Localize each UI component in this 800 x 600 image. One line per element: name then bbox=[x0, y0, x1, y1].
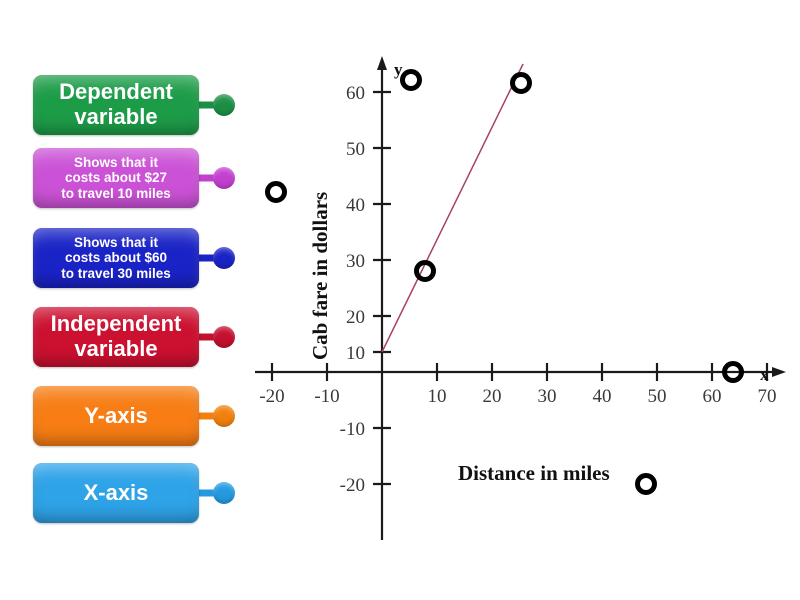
svg-text:60: 60 bbox=[703, 386, 722, 407]
label-connector-cost-60-30-miles bbox=[199, 228, 239, 288]
svg-text:10: 10 bbox=[428, 386, 447, 407]
connector-knob[interactable] bbox=[213, 167, 235, 189]
svg-text:-10: -10 bbox=[314, 386, 339, 407]
label-connector-x-axis bbox=[199, 463, 239, 523]
label-row-cost-60-30-miles[interactable]: Shows that itcosts about $60to travel 30… bbox=[33, 228, 239, 288]
label-connector-independent-variable bbox=[199, 307, 239, 367]
connector-knob[interactable] bbox=[213, 326, 235, 348]
label-tab-cost-27-10-miles[interactable]: Shows that itcosts about $27to travel 10… bbox=[33, 148, 199, 208]
drop-target-x-axis-title[interactable] bbox=[635, 473, 657, 495]
svg-text:10: 10 bbox=[346, 343, 365, 364]
svg-text:50: 50 bbox=[648, 386, 667, 407]
label-row-cost-27-10-miles[interactable]: Shows that itcosts about $27to travel 10… bbox=[33, 148, 239, 208]
label-tab-independent-variable[interactable]: Independentvariable bbox=[33, 307, 199, 367]
svg-text:40: 40 bbox=[593, 386, 612, 407]
svg-text:50: 50 bbox=[346, 139, 365, 160]
label-row-x-axis[interactable]: X-axis bbox=[33, 463, 239, 523]
x-axis-arrowhead bbox=[772, 367, 786, 377]
label-tab-y-axis[interactable]: Y-axis bbox=[33, 386, 199, 446]
y-tick-labels: 60 50 40 30 20 10 -10 -20 bbox=[340, 83, 365, 496]
label-tab-dependent-variable[interactable]: Dependentvariable bbox=[33, 75, 199, 135]
coordinate-graph: 60 50 40 30 20 10 -10 -20 -20 -10 10 20 … bbox=[255, 40, 800, 560]
drop-target-x-axis-letter[interactable] bbox=[722, 361, 744, 383]
label-tab-text: Shows that itcosts about $60to travel 30… bbox=[61, 235, 171, 280]
svg-text:30: 30 bbox=[538, 386, 557, 407]
drop-target-y-axis-letter[interactable] bbox=[400, 69, 422, 91]
drop-target-y-axis-title[interactable] bbox=[265, 181, 287, 203]
y-axis-title: Cab fare in dollars bbox=[308, 192, 333, 360]
label-row-independent-variable[interactable]: Independentvariable bbox=[33, 307, 239, 367]
plotted-line bbox=[382, 64, 523, 352]
svg-text:-10: -10 bbox=[340, 419, 365, 440]
label-tab-cost-60-30-miles[interactable]: Shows that itcosts about $60to travel 30… bbox=[33, 228, 199, 288]
label-tab-x-axis[interactable]: X-axis bbox=[33, 463, 199, 523]
svg-text:60: 60 bbox=[346, 83, 365, 104]
label-tab-text: Independentvariable bbox=[51, 312, 182, 361]
svg-text:70: 70 bbox=[758, 386, 777, 407]
label-row-dependent-variable[interactable]: Dependentvariable bbox=[33, 75, 239, 135]
drop-target-line-upper[interactable] bbox=[510, 72, 532, 94]
label-tab-text: Y-axis bbox=[84, 404, 148, 429]
svg-text:-20: -20 bbox=[259, 386, 284, 407]
connector-knob[interactable] bbox=[213, 482, 235, 504]
svg-text:20: 20 bbox=[483, 386, 502, 407]
y-axis-arrowhead bbox=[377, 56, 387, 70]
svg-text:-20: -20 bbox=[340, 475, 365, 496]
label-connector-y-axis bbox=[199, 386, 239, 446]
drop-target-line-lower[interactable] bbox=[414, 260, 436, 282]
label-tab-text: Shows that itcosts about $27to travel 10… bbox=[61, 155, 171, 200]
x-axis-letter: x bbox=[760, 365, 769, 385]
label-tab-text: X-axis bbox=[84, 481, 149, 506]
label-connector-cost-27-10-miles bbox=[199, 148, 239, 208]
svg-text:20: 20 bbox=[346, 307, 365, 328]
svg-text:40: 40 bbox=[346, 195, 365, 216]
connector-knob[interactable] bbox=[213, 405, 235, 427]
svg-text:30: 30 bbox=[346, 251, 365, 272]
label-connector-dependent-variable bbox=[199, 75, 239, 135]
x-tick-labels: -20 -10 10 20 30 40 50 60 70 bbox=[259, 386, 776, 407]
connector-knob[interactable] bbox=[213, 247, 235, 269]
x-axis-title: Distance in miles bbox=[458, 461, 610, 486]
label-tab-text: Dependentvariable bbox=[59, 80, 173, 129]
label-row-y-axis[interactable]: Y-axis bbox=[33, 386, 239, 446]
connector-knob[interactable] bbox=[213, 94, 235, 116]
